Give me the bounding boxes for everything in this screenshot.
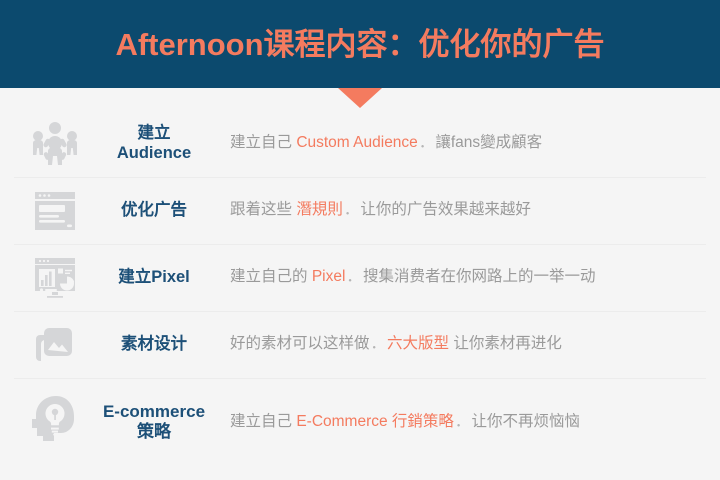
desc-separator: ．	[345, 268, 363, 285]
list-item-label: E-commerce 策略	[92, 402, 216, 442]
list-item-label-line2: 策略	[92, 422, 216, 442]
list-item-label: 建立Pixel	[92, 268, 216, 287]
slide: Afternoon课程内容：优化你的广告	[0, 0, 720, 480]
list-item[interactable]: 素材设计 好的素材可以这样做．六大版型 让你素材再进化	[0, 311, 720, 378]
desc-before: 好的素材可以这样做	[230, 335, 370, 352]
desc-highlight: E-Commerce 行銷策略	[296, 413, 454, 430]
list-item-label-line1: 优化广告	[121, 201, 187, 219]
desc-separator: ．	[418, 134, 436, 151]
desc-separator: ．	[370, 335, 388, 352]
desc-after: 让你不再烦恼恼	[471, 413, 580, 430]
desc-separator: ．	[454, 413, 472, 430]
desc-highlight: 六大版型	[387, 335, 449, 352]
list-item-label-line1: 建立	[138, 124, 171, 142]
list-item-description: 跟着这些 潛規則．让你的广告效果越来越好	[216, 200, 706, 220]
desc-before: 建立自己	[230, 134, 296, 151]
list-item[interactable]: 建立Pixel 建立自己的 Pixel．搜集消费者在你网路上的一举一动	[0, 244, 720, 311]
desc-highlight: Pixel	[312, 268, 346, 285]
desc-highlight: Custom Audience	[296, 134, 418, 151]
list-item-description: 建立自己 Custom Audience．讓fans變成顧客	[216, 133, 706, 153]
list-item-label: 建立 Audience	[92, 124, 216, 163]
desc-highlight: 潛規則	[296, 201, 343, 218]
desc-before: 跟着这些	[230, 201, 296, 218]
browser-window-icon	[18, 189, 92, 233]
people-group-icon	[18, 121, 92, 167]
desc-after: 让你的广告效果越来越好	[360, 201, 531, 218]
list-item-label-line1: 建立Pixel	[118, 268, 190, 286]
list-item-description: 好的素材可以这样做．六大版型 让你素材再进化	[216, 334, 706, 354]
desc-after: 让你素材再进化	[449, 335, 562, 352]
image-stack-icon	[18, 324, 92, 366]
list-item[interactable]: 建立 Audience 建立自己 Custom Audience．讓fans變成…	[0, 110, 720, 177]
agenda-list: 建立 Audience 建立自己 Custom Audience．讓fans變成…	[0, 110, 720, 466]
desc-after: 讓fans變成顧客	[435, 134, 542, 151]
desc-before: 建立自己的	[230, 268, 312, 285]
list-item-label-line1: 素材设计	[121, 335, 187, 353]
list-item-label-line2: Audience	[92, 144, 216, 163]
list-item-description: 建立自己的 Pixel．搜集消费者在你网路上的一举一动	[216, 267, 706, 287]
list-item-label: 优化广告	[92, 201, 216, 220]
list-item-label-line1: E-commerce	[103, 402, 205, 421]
desc-after: 搜集消费者在你网路上的一举一动	[363, 268, 596, 285]
list-item-label: 素材设计	[92, 335, 216, 354]
monitor-analytics-icon	[18, 256, 92, 300]
head-lightbulb-icon	[18, 394, 92, 450]
page-title: Afternoon课程内容：优化你的广告	[115, 29, 604, 60]
list-item[interactable]: 优化广告 跟着这些 潛規則．让你的广告效果越来越好	[0, 177, 720, 244]
slide-header: Afternoon课程内容：优化你的广告	[0, 0, 720, 88]
triangle-pointer-icon	[338, 88, 382, 108]
desc-separator: ．	[343, 201, 361, 218]
desc-before: 建立自己	[230, 413, 296, 430]
list-item-description: 建立自己 E-Commerce 行銷策略．让你不再烦恼恼	[216, 412, 706, 432]
list-item[interactable]: E-commerce 策略 建立自己 E-Commerce 行銷策略．让你不再烦…	[0, 378, 720, 466]
